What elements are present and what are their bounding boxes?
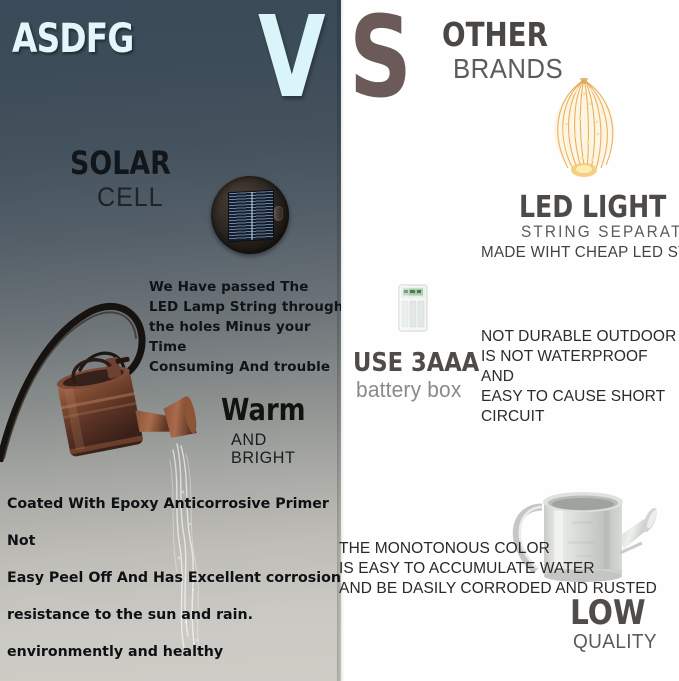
vs-letter-v: V xyxy=(258,2,326,114)
comparison-poster: ASDFG SOLAR CELL xyxy=(0,0,679,681)
warm-title: Warm xyxy=(221,396,306,426)
left-mid-text: We Have passed The LED Lamp String throu… xyxy=(149,277,341,377)
solar-title: SOLAR xyxy=(70,147,171,179)
right-mid-text: NOT DURABLE OUTDOOR IS NOT WATERPROOF AN… xyxy=(481,327,679,427)
left-bottom-line-1: Coated With Epoxy Anticorrosive Primer N… xyxy=(7,486,341,560)
battery-box-label: battery box xyxy=(356,378,461,401)
left-mid-line-2: LED Lamp String through xyxy=(149,297,341,317)
use-3aaa-title: USE 3AAA xyxy=(353,350,479,376)
vs-letter-s: S xyxy=(349,2,412,114)
right-bottom-text: THE MONOTONOUS COLOR IS EASY TO ACCUMULA… xyxy=(339,539,669,599)
solar-panel-disc-icon xyxy=(211,176,289,254)
led-light-subtitle: STRING SEPARATION xyxy=(521,223,679,241)
right-mid-line-1: NOT DURABLE OUTDOOR xyxy=(481,327,679,347)
right-bottom-line-1: THE MONOTONOUS COLOR xyxy=(339,539,669,559)
solar-switch-icon xyxy=(274,206,283,221)
left-mid-line-1: We Have passed The xyxy=(149,277,341,297)
other-title: OTHER xyxy=(442,18,548,52)
solar-subtitle: CELL xyxy=(97,183,164,211)
left-mid-line-4: Consuming And trouble xyxy=(149,357,341,377)
low-title: LOW xyxy=(570,596,646,630)
left-bottom-line-2: Easy Peel Off And Has Excellent corrosio… xyxy=(7,560,341,597)
photovoltaic-cell-icon xyxy=(228,190,274,242)
right-mid-line-4: CIRCUIT xyxy=(481,407,679,427)
battery-box-3aaa-icon xyxy=(397,283,429,333)
and-bright-subtitle: AND BRIGHT xyxy=(231,431,336,467)
brand-name-left: ASDFG xyxy=(12,16,133,62)
left-mid-line-3: the holes Minus your Time xyxy=(149,317,341,357)
right-mid-line-3: EASY TO CAUSE SHORT xyxy=(481,387,679,407)
right-mid-line-2: IS NOT WATERPROOF AND xyxy=(481,347,679,387)
led-light-title: LED LIGHT xyxy=(519,193,666,223)
left-bottom-line-4: environmently and healthy xyxy=(7,634,341,671)
right-bottom-line-2: IS EASY TO ACCUMULATE WATER xyxy=(339,559,669,579)
quality-subtitle: QUALITY xyxy=(573,632,657,653)
led-string-light-icon xyxy=(540,72,628,182)
left-bottom-text: Coated With Epoxy Anticorrosive Primer N… xyxy=(7,486,341,671)
left-bottom-line-3: resistance to the sun and rain. xyxy=(7,597,341,634)
led-light-note: MADE WIHT CHEAP LED STRIPS xyxy=(481,244,679,262)
